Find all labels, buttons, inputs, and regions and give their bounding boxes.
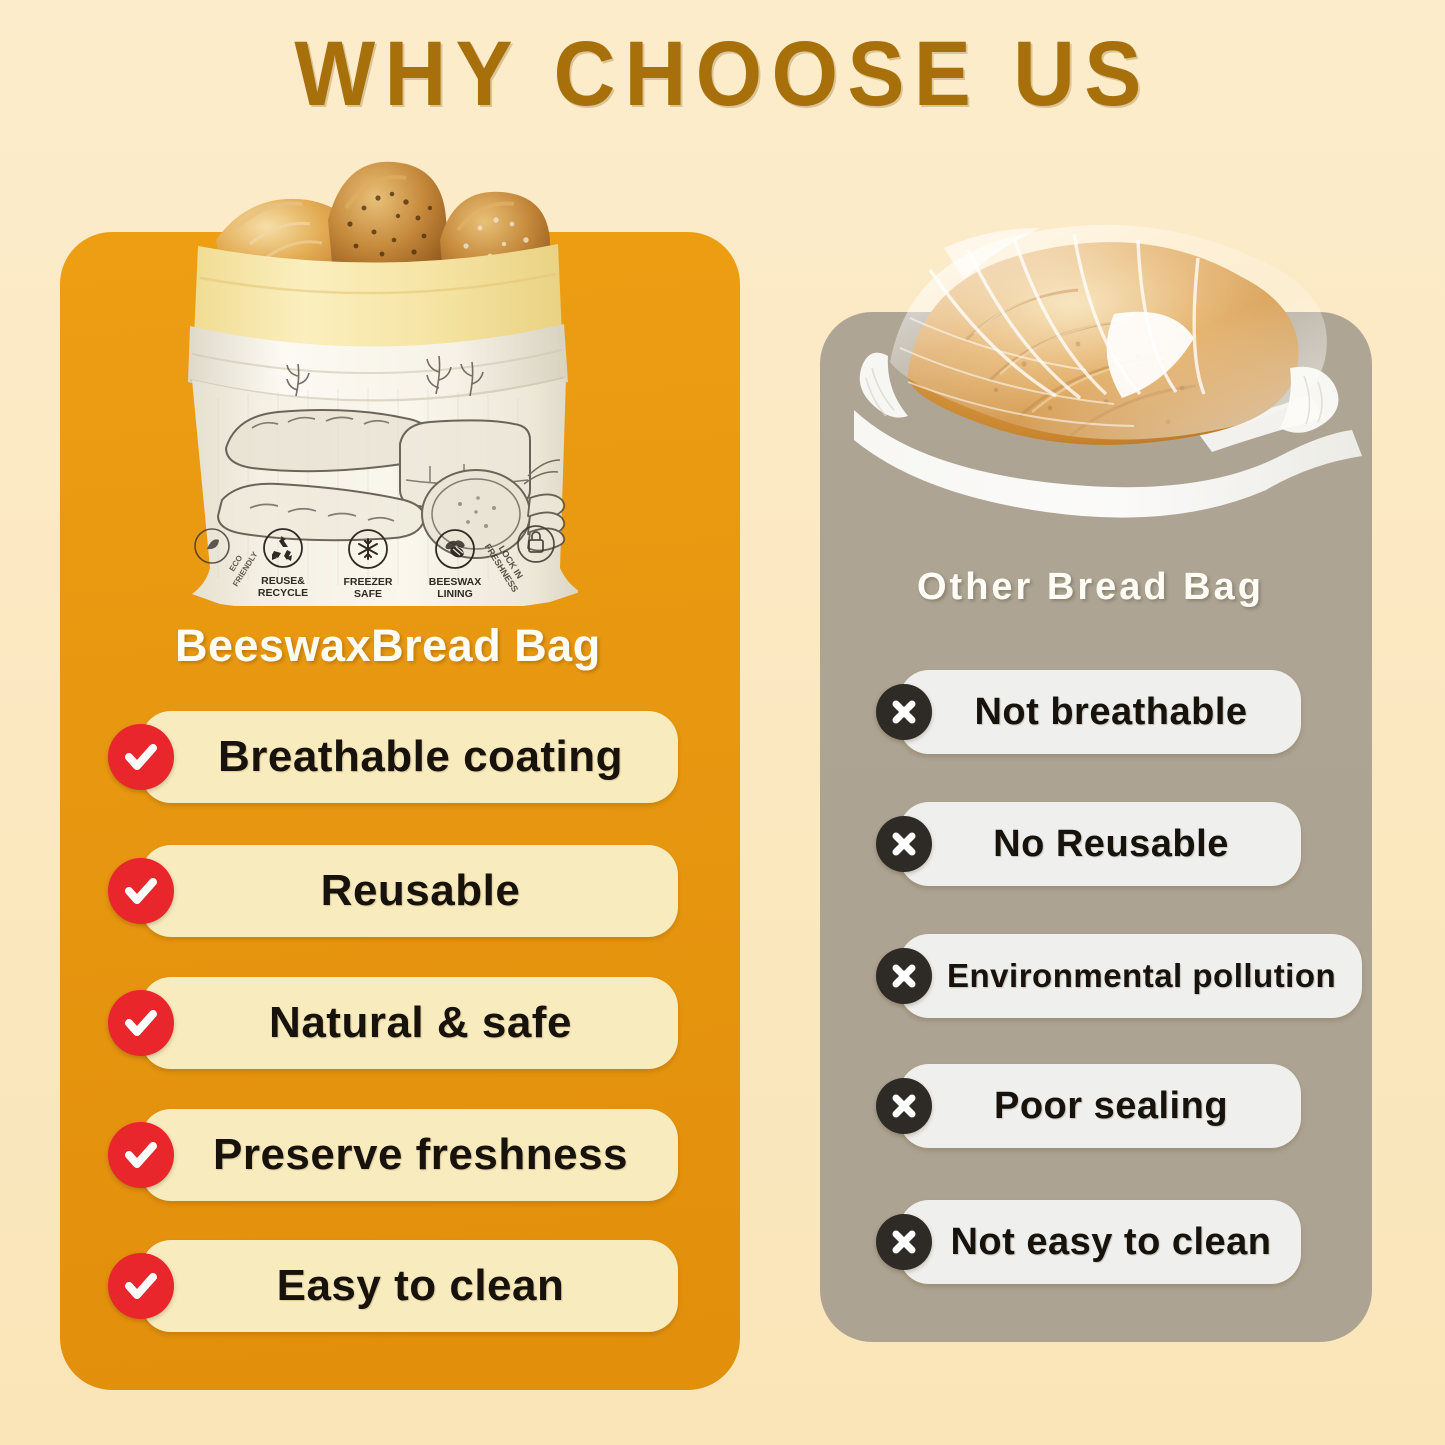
feature-row-ours-5[interactable]: Easy to clean <box>108 1240 678 1332</box>
cross-icon <box>876 816 932 872</box>
svg-text:REUSE&: REUSE& <box>261 575 305 587</box>
cross-icon <box>876 1214 932 1270</box>
check-icon <box>108 1122 174 1188</box>
feature-label-theirs-1: Not breathable <box>899 670 1301 754</box>
feature-row-ours-3[interactable]: Natural & safe <box>108 977 678 1069</box>
feature-row-theirs-5[interactable]: Not easy to clean <box>876 1196 1301 1288</box>
feature-label-ours-5: Easy to clean <box>141 1240 678 1332</box>
svg-text:RECYCLE: RECYCLE <box>258 587 308 599</box>
check-icon <box>108 1253 174 1319</box>
feature-row-ours-2[interactable]: Reusable <box>108 845 678 937</box>
feature-row-theirs-2[interactable]: No Reusable <box>876 798 1301 890</box>
other-product-name: Other Bread Bag <box>917 566 1264 609</box>
svg-text:SAFE: SAFE <box>354 588 382 600</box>
page-title: WHY CHOOSE US <box>51 22 1395 127</box>
feature-label-theirs-2: No Reusable <box>899 802 1301 886</box>
cross-icon <box>876 948 932 1004</box>
svg-text:BEESWAX: BEESWAX <box>429 576 482 588</box>
feature-row-theirs-4[interactable]: Poor sealing <box>876 1060 1301 1152</box>
check-icon <box>108 724 174 790</box>
plastic-wrapped-bread-image <box>838 222 1378 522</box>
svg-text:LINING: LINING <box>437 588 473 600</box>
feature-row-theirs-1[interactable]: Not breathable <box>876 666 1301 758</box>
feature-label-theirs-5: Not easy to clean <box>899 1200 1301 1284</box>
feature-label-ours-3: Natural & safe <box>141 977 678 1069</box>
feature-row-theirs-3[interactable]: Environmental pollution <box>876 930 1301 1022</box>
check-icon <box>108 990 174 1056</box>
feature-label-theirs-4: Poor sealing <box>899 1064 1301 1148</box>
our-product-name: BeeswaxBread Bag <box>175 620 601 672</box>
feature-label-ours-4: Preserve freshness <box>141 1109 678 1201</box>
infographic-canvas: WHY CHOOSE US <box>0 0 1445 1445</box>
feature-label-theirs-3: Environmental pollution <box>899 934 1362 1018</box>
cross-icon <box>876 1078 932 1134</box>
feature-label-ours-2: Reusable <box>141 845 678 937</box>
feature-row-ours-4[interactable]: Preserve freshness <box>108 1109 678 1201</box>
cross-icon <box>876 684 932 740</box>
feature-row-ours-1[interactable]: Breathable coating <box>108 711 678 803</box>
beeswax-linen-bread-bag-image: ECO FRIENDLY REUSE& RECYCLE <box>178 128 578 606</box>
check-icon <box>108 858 174 924</box>
svg-text:FREEZER: FREEZER <box>343 576 392 588</box>
feature-label-ours-1: Breathable coating <box>141 711 678 803</box>
